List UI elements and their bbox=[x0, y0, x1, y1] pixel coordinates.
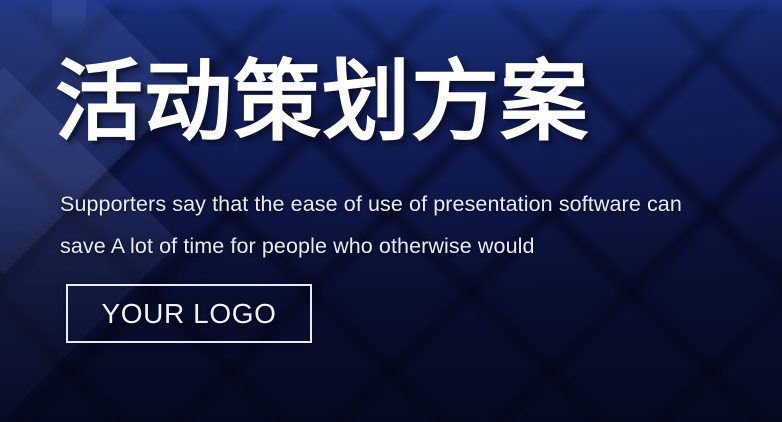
slide-content: 活动策划方案 Supporters say that the ease of u… bbox=[0, 0, 782, 422]
logo-placeholder-box[interactable]: YOUR LOGO bbox=[66, 284, 312, 343]
slide-subtitle: Supporters say that the ease of use of p… bbox=[60, 183, 760, 267]
slide-title: 活动策划方案 bbox=[55, 55, 589, 148]
subtitle-line-1: Supporters say that the ease of use of p… bbox=[60, 183, 760, 225]
logo-placeholder-text: YOUR LOGO bbox=[102, 298, 277, 330]
subtitle-line-2: save A lot of time for people who otherw… bbox=[60, 225, 760, 267]
presentation-slide: 活动策划方案 Supporters say that the ease of u… bbox=[0, 0, 782, 422]
